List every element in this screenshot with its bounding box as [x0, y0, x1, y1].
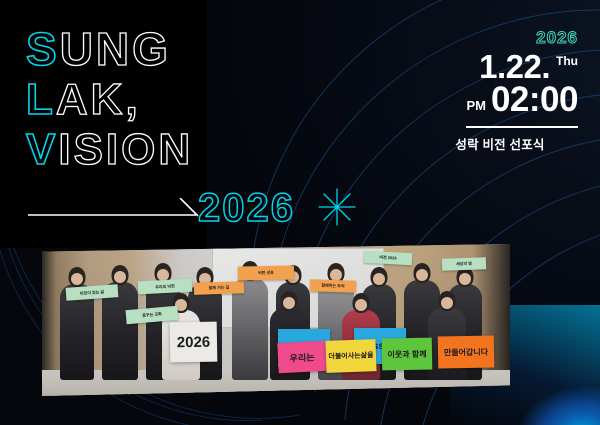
event-year: 2026 [428, 28, 578, 48]
info-divider [466, 126, 578, 128]
group-photo: 비전이 있는 삶우리의 비전함께 가는 길비전 선포함께하는 우리비전 2026… [42, 244, 510, 396]
photo-sign: 세상의 빛 [442, 257, 486, 271]
event-day-of-week: Thu [556, 50, 578, 68]
sparkle-icon [318, 188, 356, 226]
event-time: 02:00 [491, 82, 578, 119]
title-rest-letters: AK, [56, 75, 141, 124]
photo-background-wall: 비전이 있는 삶우리의 비전함께 가는 길비전 선포함께하는 우리비전 2026… [42, 244, 510, 396]
photo-board: 우리는 [277, 341, 327, 373]
title-line-lak: LAK, [26, 78, 193, 122]
photo-sign: 비전 2026 [364, 251, 413, 265]
event-info-panel: 2026 1.22. Thu PM 02:00 성락 비전 선포식 [428, 28, 578, 153]
photo-sign: 함께 가는 길 [194, 281, 244, 295]
event-ampm: PM [466, 98, 486, 118]
title-line-sung: SUNG [26, 26, 193, 72]
photo-board: 더불어사는삶을 [325, 339, 376, 373]
title-accent-letter: L [26, 75, 56, 124]
poster-year: 2026 [198, 186, 295, 231]
title-accent-letter: S [26, 23, 60, 75]
photo-sign: 함께하는 우리 [310, 279, 356, 293]
photo-board: 2026 [170, 322, 218, 363]
title-rest-letters: UNG [60, 23, 171, 75]
event-subtitle: 성락 비전 선포식 [428, 134, 578, 153]
poster-title: SUNG LAK, VISION [26, 26, 193, 178]
title-accent-letter: V [26, 125, 58, 174]
event-time-row: PM 02:00 [428, 82, 578, 119]
arrow-right-icon [28, 198, 203, 226]
title-line-vision: VISION [26, 128, 193, 172]
photo-sign: 비전 선포 [238, 266, 294, 281]
photo-board: 만들어갑니다 [438, 336, 495, 369]
poster-canvas: SUNG LAK, VISION 2026 2026 1.22. Thu PM … [0, 0, 600, 425]
photo-sign: 우리의 비전 [138, 279, 193, 295]
title-rest-letters: ISION [58, 125, 193, 174]
photo-board: 이웃과 함께 [382, 338, 433, 371]
